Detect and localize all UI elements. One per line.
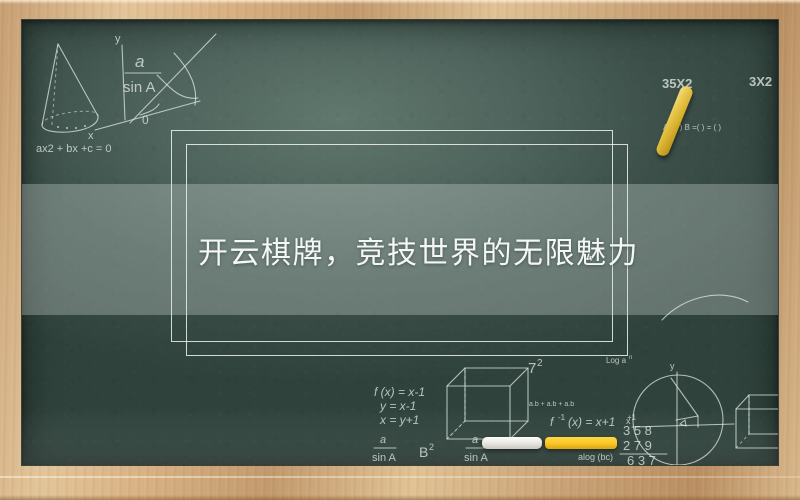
fraction-a-over-sinA-topleft: a sin A xyxy=(123,52,161,96)
svg-text:y: y xyxy=(115,33,121,45)
yellow-chalk-on-ledge xyxy=(545,437,617,449)
svg-text:y: y xyxy=(670,361,675,371)
svg-text:f (x) = x-1: f (x) = x-1 xyxy=(374,385,425,399)
page-title: 开云棋牌，竞技世界的无限魅力 xyxy=(198,228,639,272)
chalk-dust-haze xyxy=(22,405,778,465)
frame-top-highlight xyxy=(0,0,800,4)
svg-text:x: x xyxy=(88,130,94,142)
svg-text:n: n xyxy=(629,355,632,361)
product-3x2: 3X2 xyxy=(749,74,772,89)
svg-text:2: 2 xyxy=(537,358,543,369)
chalk-ledge-line xyxy=(0,476,800,478)
exponent-seven-squared: 7 2 xyxy=(528,358,543,377)
chalkboard-banner: a sin A y x 0 ax2 + bx +c = xyxy=(0,0,800,500)
svg-text:0: 0 xyxy=(142,113,149,127)
log-an-label: Log a xyxy=(606,356,627,365)
white-chalk-on-ledge xyxy=(482,437,542,449)
svg-text:sin A: sin A xyxy=(123,79,156,96)
svg-text:a: a xyxy=(135,52,144,71)
title-band: 开云棋牌，竞技世界的无限魅力 xyxy=(22,184,778,315)
quadratic-equation: ax2 + bx +c = 0 xyxy=(36,143,112,155)
cone-drawing xyxy=(42,44,98,132)
svg-text:7: 7 xyxy=(528,360,536,377)
chalkboard-surface: a sin A y x 0 ax2 + bx +c = xyxy=(22,20,778,465)
frame-bottom-shadow xyxy=(0,495,800,500)
